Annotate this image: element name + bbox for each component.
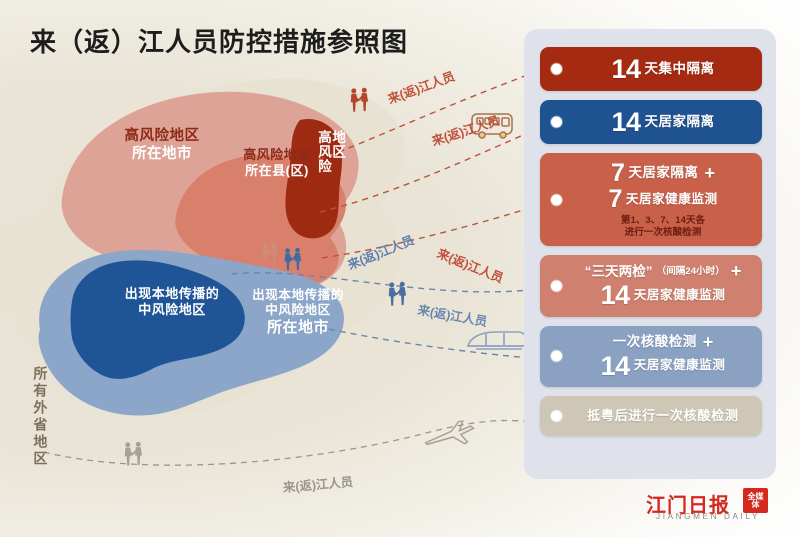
brand-logo: 江门日报 JIANGMEN DAILY 全媒体 [646,489,786,529]
measure-number: 14 [601,352,630,380]
map-shapes [0,0,540,537]
bullet-icon [551,351,562,362]
measure-text: 天居家健康监测 [634,359,726,372]
measure-number-1: 7 [611,160,624,186]
brand-seal-badge: 全媒体 [743,488,768,513]
measure-card-three-days-two-tests-plus-monitor-14[interactable]: “三天两检” （间隔24小时） + 14 天居家健康监测 [540,255,762,316]
measure-number: 14 [611,108,640,136]
measure-top-text: 一次核酸检测 [613,335,697,349]
infographic-canvas: 来（返）江人员防控措施参照图 [0,0,800,537]
risk-zone-map: 高风险地区 所在地市 高风险地区 所在县(区) 高风险地区 出现本地传播的 中风… [0,0,540,537]
measure-text-2: 天居家健康监测 [626,193,718,206]
measure-quote: “三天两检” [585,265,653,279]
measure-text: 天居家健康监测 [634,289,726,302]
measure-note-line2: 进行一次核酸检测 [574,227,752,239]
measure-card-home-quarantine-14[interactable]: 14 天居家隔离 [540,100,762,144]
measure-note-line1: 第1、3、7、14天各 [574,215,752,227]
bullet-icon [551,64,562,75]
measure-text: 天居家隔离 [645,115,715,129]
plus-icon: + [704,164,715,183]
measure-card-one-test-on-arrival[interactable]: 抵粤后进行一次核酸检测 [540,396,762,436]
measures-list: 14 天集中隔离 14 天居家隔离 7 天居家隔离 + 7 天居家健康监测 [540,47,762,445]
route-6-line [44,420,530,465]
zone-label-other-provinces: 所有外省地区 [32,366,47,468]
plus-icon: + [703,333,714,352]
measure-paren: （间隔24小时） [657,267,725,277]
measure-number: 14 [601,281,630,309]
brand-name-en: JIANGMEN DAILY [656,512,760,521]
bus-icon [472,114,512,138]
bullet-icon [551,117,562,128]
measure-text: 抵粤后进行一次核酸检测 [587,409,739,422]
measure-card-home-quarantine-7-plus-monitor-7[interactable]: 7 天居家隔离 + 7 天居家健康监测 第1、3、7、14天各 进行一次核酸检测 [540,153,762,246]
bullet-icon [551,281,562,292]
measure-number-2: 7 [608,186,621,212]
measure-number: 14 [611,55,640,83]
measure-card-centralized-quarantine[interactable]: 14 天集中隔离 [540,47,762,91]
bullet-icon [551,410,562,421]
pedestrians-icon [125,442,142,466]
measure-text: 天集中隔离 [645,62,715,76]
measure-card-one-test-plus-monitor-14[interactable]: 一次核酸检测 + 14 天居家健康监测 [540,326,762,387]
zone-high-risk-area-shape [285,119,342,238]
train-icon [468,332,527,349]
plus-icon: + [731,262,742,281]
bullet-icon [551,194,562,205]
measure-text-1: 天居家隔离 [628,166,698,180]
